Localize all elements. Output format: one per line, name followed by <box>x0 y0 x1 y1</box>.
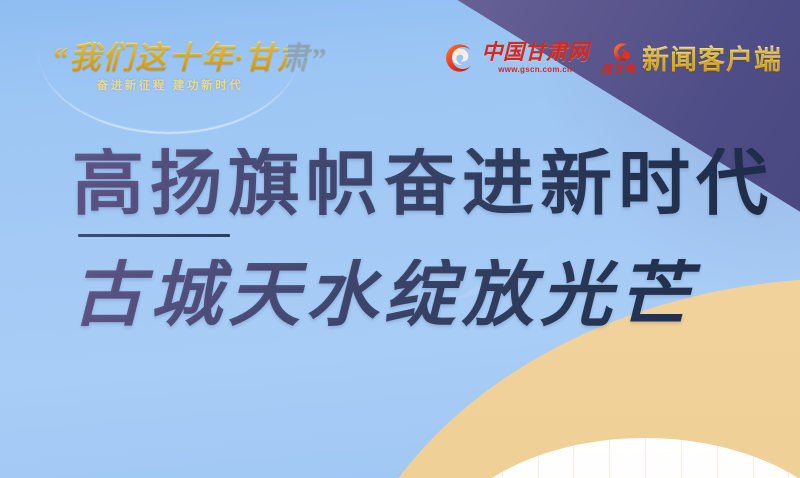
xibeijiao-swirl-icon: 西北角 <box>605 40 635 76</box>
brand-logo-xibeijiao[interactable]: 西北角 新闻客户端 <box>605 38 782 77</box>
campaign-logo-left: “我们这十年·甘肃” 奋进新征程 建功新时代 <box>44 30 294 110</box>
poster-canvas: “我们这十年·甘肃” 奋进新征程 建功新时代 <box>0 0 800 478</box>
gscn-name-label: 中国甘肃网 <box>482 42 590 63</box>
xibeijiao-badge-label: 西北角 <box>601 61 636 77</box>
headline-block: 高扬旗帜奋进新时代 古城天水绽放光芒 <box>72 148 772 331</box>
xibeijiao-name-label: 新闻客户端 <box>642 38 782 77</box>
headline-divider <box>78 234 230 237</box>
campaign-logo-subtitle: 奋进新征程 建功新时代 <box>52 77 288 93</box>
headline-line-1: 高扬旗帜奋进新时代 <box>72 148 772 220</box>
campaign-logo-title: “我们这十年·甘肃” <box>52 32 288 77</box>
gansu-net-swirl-icon <box>442 41 476 75</box>
gscn-text-block: 中国甘肃网 www.gscn.com.cn <box>482 42 590 74</box>
brand-logo-group: 中国甘肃网 www.gscn.com.cn 西北角 <box>442 38 783 77</box>
gscn-url-label: www.gscn.com.cn <box>498 66 572 74</box>
headline-line-2: 古城天水绽放光芒 <box>72 259 772 331</box>
brand-logo-gscn[interactable]: 中国甘肃网 www.gscn.com.cn <box>442 41 590 75</box>
